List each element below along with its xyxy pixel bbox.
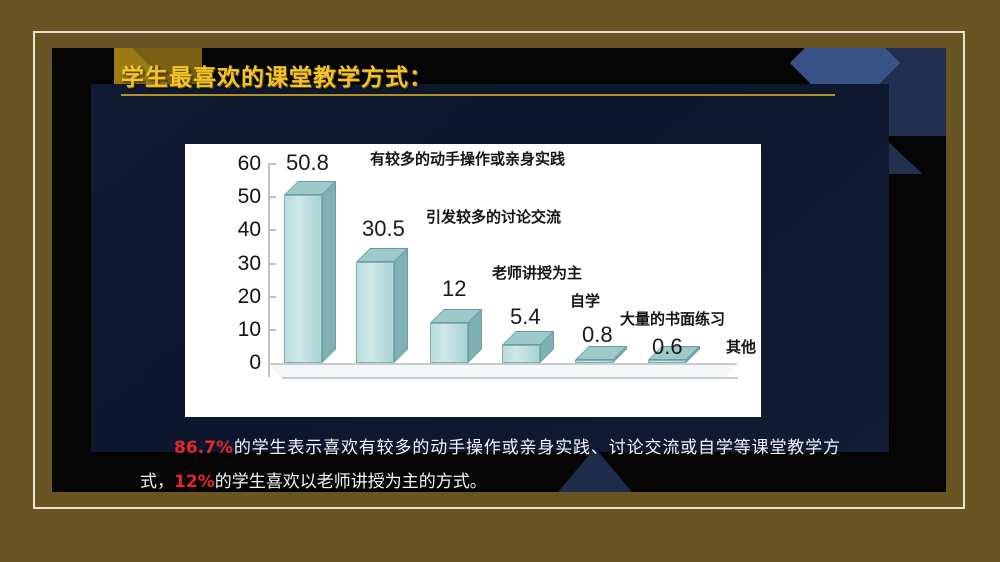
- bar-value-label: 50.8: [286, 150, 329, 176]
- bar-value-label: 5.4: [510, 304, 541, 330]
- y-axis-tick-labels: 6050403020100: [207, 144, 261, 417]
- bar-front-face: [430, 323, 468, 363]
- bar-chart: 6050403020100 50.830.5125.40.80.6 有较多的动手…: [185, 144, 761, 417]
- y-axis-tick: [268, 229, 276, 231]
- caption-highlight-1: 86.7%: [174, 438, 233, 458]
- y-axis-label: 30: [217, 252, 261, 276]
- bar-category-label: 有较多的动手操作或亲身实践: [370, 148, 565, 169]
- caption-text: 86.7%的学生表示喜欢有较多的动手操作或亲身实践、讨论交流或自学等课堂教学方式…: [140, 431, 840, 492]
- title-underline: [121, 94, 835, 96]
- y-axis-tick: [268, 196, 276, 198]
- y-axis-tick: [268, 263, 276, 265]
- bar-front-face: [284, 195, 322, 363]
- bar-category-label: 引发较多的讨论交流: [426, 206, 561, 227]
- slide-stage: 学生最喜欢的课堂教学方式： 6050403020100 50.830.5125.…: [52, 48, 946, 492]
- y-axis-label: 10: [217, 318, 261, 342]
- title-row: 学生最喜欢的课堂教学方式：: [65, 58, 835, 102]
- bar-4: [502, 331, 540, 363]
- y-axis-label: 50: [217, 185, 261, 209]
- blue-corner-chevron-icon: [882, 136, 946, 196]
- bar-category-label: 大量的书面练习: [620, 308, 725, 329]
- y-axis-label: 60: [217, 152, 261, 176]
- y-axis-tick: [268, 329, 276, 331]
- bar-front-face: [575, 360, 613, 363]
- bar-5: [575, 346, 613, 363]
- bar-top-face: [575, 346, 627, 360]
- chart-floor-edge: [282, 377, 738, 379]
- y-axis-tick: [268, 296, 276, 298]
- bar-front-face: [356, 262, 394, 363]
- bar-1: [284, 181, 322, 363]
- bar-value-label: 0.8: [582, 322, 613, 348]
- y-axis-label: 40: [217, 218, 261, 242]
- bar-side-face: [394, 248, 408, 363]
- bar-3: [430, 309, 468, 363]
- page-title: 学生最喜欢的课堂教学方式：: [121, 58, 433, 92]
- chart-panel: 6050403020100 50.830.5125.40.80.6 有较多的动手…: [185, 144, 761, 417]
- y-axis-tick: [268, 163, 276, 165]
- bar-value-label: 30.5: [362, 216, 405, 242]
- caption-body-2: 的学生喜欢以老师讲授为主的方式。: [215, 472, 487, 492]
- bar-side-face: [322, 181, 336, 363]
- caption-highlight-2: 12%: [174, 472, 215, 492]
- bar-value-label: 12: [442, 276, 466, 302]
- bar-front-face: [648, 360, 686, 363]
- slide-root: 学生最喜欢的课堂教学方式： 6050403020100 50.830.5125.…: [0, 0, 1000, 562]
- y-axis-label: 0: [217, 351, 261, 375]
- bar-category-label: 其他: [726, 336, 756, 357]
- bar-front-face: [502, 345, 540, 363]
- bar-value-label: 0.6: [652, 334, 683, 360]
- bar-category-label: 老师讲授为主: [492, 262, 582, 283]
- bar-category-label: 自学: [570, 290, 600, 311]
- bar-2: [356, 248, 394, 363]
- y-axis-label: 20: [217, 285, 261, 309]
